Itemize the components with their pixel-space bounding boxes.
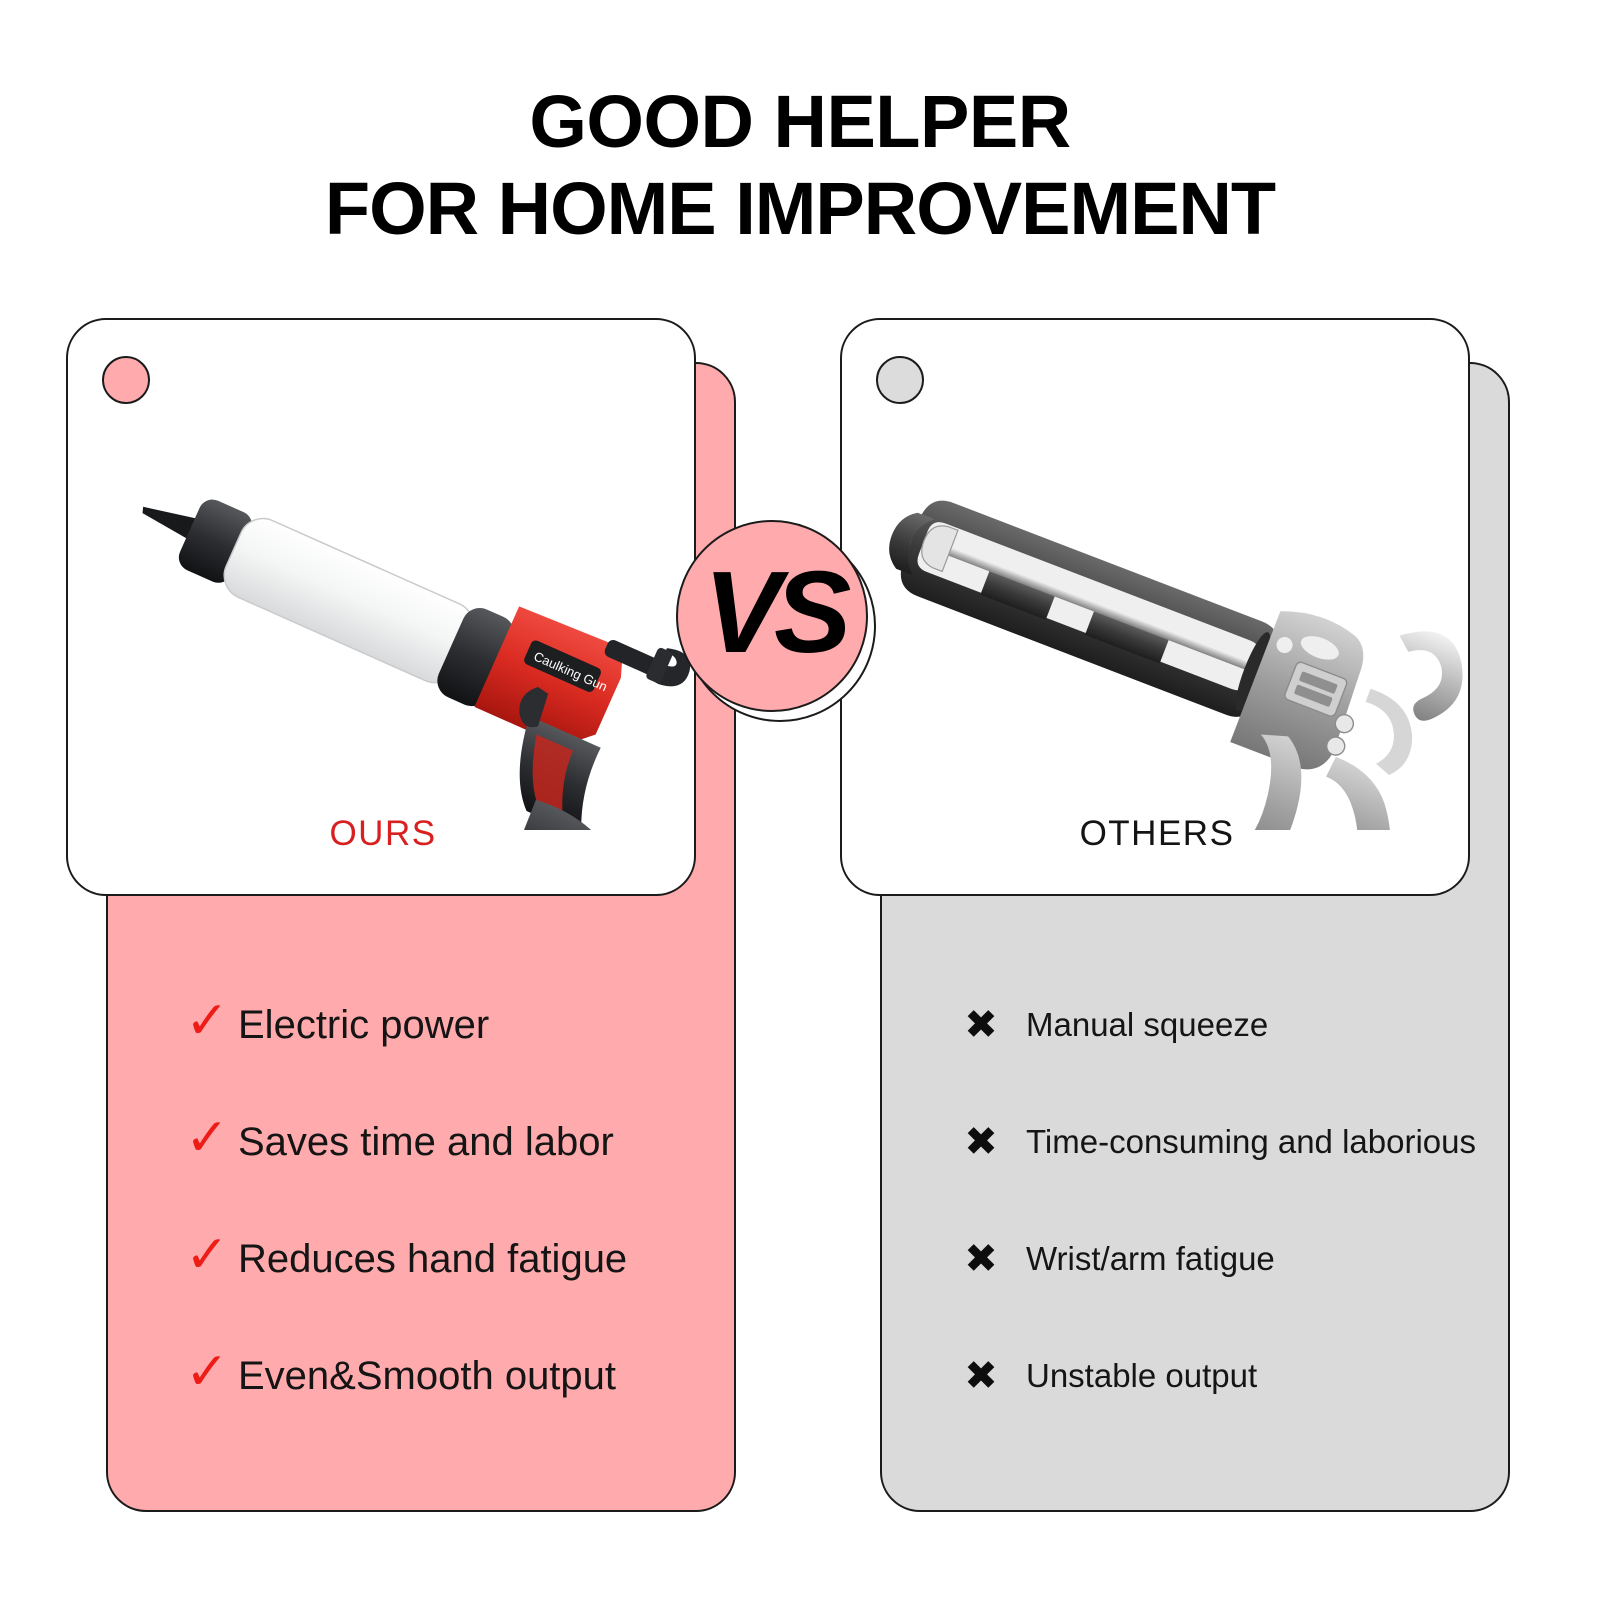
feature-label: Unstable output bbox=[1026, 1357, 1257, 1395]
others-feature-list: ✖ Manual squeeze ✖ Time-consuming and la… bbox=[950, 966, 1590, 1434]
feature-label: Wrist/arm fatigue bbox=[1026, 1240, 1275, 1278]
cross-icon: ✖ bbox=[950, 1239, 1012, 1279]
feature-label: Time-consuming and laborious bbox=[1026, 1123, 1476, 1161]
ours-feature-list: ✓ Electric power ✓ Saves time and labor … bbox=[176, 966, 796, 1434]
card-label-ours: OURS bbox=[68, 814, 696, 854]
check-icon: ✓ bbox=[176, 1112, 238, 1164]
feature-label: Manual squeeze bbox=[1026, 1006, 1268, 1044]
feature-label: Even&Smooth output bbox=[238, 1353, 616, 1399]
card-label-others: OTHERS bbox=[842, 814, 1470, 854]
list-item: ✖ Time-consuming and laborious bbox=[950, 1083, 1590, 1200]
title-line-1: GOOD HELPER bbox=[529, 80, 1070, 163]
feature-label: Saves time and labor bbox=[238, 1119, 614, 1165]
list-item: ✓ Saves time and labor bbox=[176, 1083, 796, 1200]
list-item: ✓ Even&Smooth output bbox=[176, 1317, 796, 1434]
cross-icon: ✖ bbox=[950, 1122, 1012, 1162]
vs-badge: VS bbox=[676, 520, 880, 724]
others-product-card[interactable]: OTHERS bbox=[840, 318, 1470, 896]
electric-caulking-gun-image: Caulking Gun bbox=[68, 360, 696, 830]
check-icon: ✓ bbox=[176, 995, 238, 1047]
vs-badge-circle: VS bbox=[676, 520, 868, 712]
list-item: ✓ Reduces hand fatigue bbox=[176, 1200, 796, 1317]
cross-icon: ✖ bbox=[950, 1356, 1012, 1396]
list-item: ✖ Wrist/arm fatigue bbox=[950, 1200, 1590, 1317]
cross-icon: ✖ bbox=[950, 1005, 1012, 1045]
check-icon: ✓ bbox=[176, 1346, 238, 1398]
feature-label: Reduces hand fatigue bbox=[238, 1236, 627, 1282]
vs-badge-label: VS bbox=[704, 545, 845, 679]
list-item: ✓ Electric power bbox=[176, 966, 796, 1083]
title-line-2: FOR HOME IMPROVEMENT bbox=[0, 165, 1600, 252]
feature-label: Electric power bbox=[238, 1002, 489, 1048]
ours-product-card[interactable]: Caulking Gun OURS bbox=[66, 318, 696, 896]
manual-caulking-gun-image bbox=[842, 360, 1470, 830]
list-item: ✖ Manual squeeze bbox=[950, 966, 1590, 1083]
list-item: ✖ Unstable output bbox=[950, 1317, 1590, 1434]
check-icon: ✓ bbox=[176, 1229, 238, 1281]
page-title: GOOD HELPER FOR HOME IMPROVEMENT bbox=[0, 78, 1600, 253]
